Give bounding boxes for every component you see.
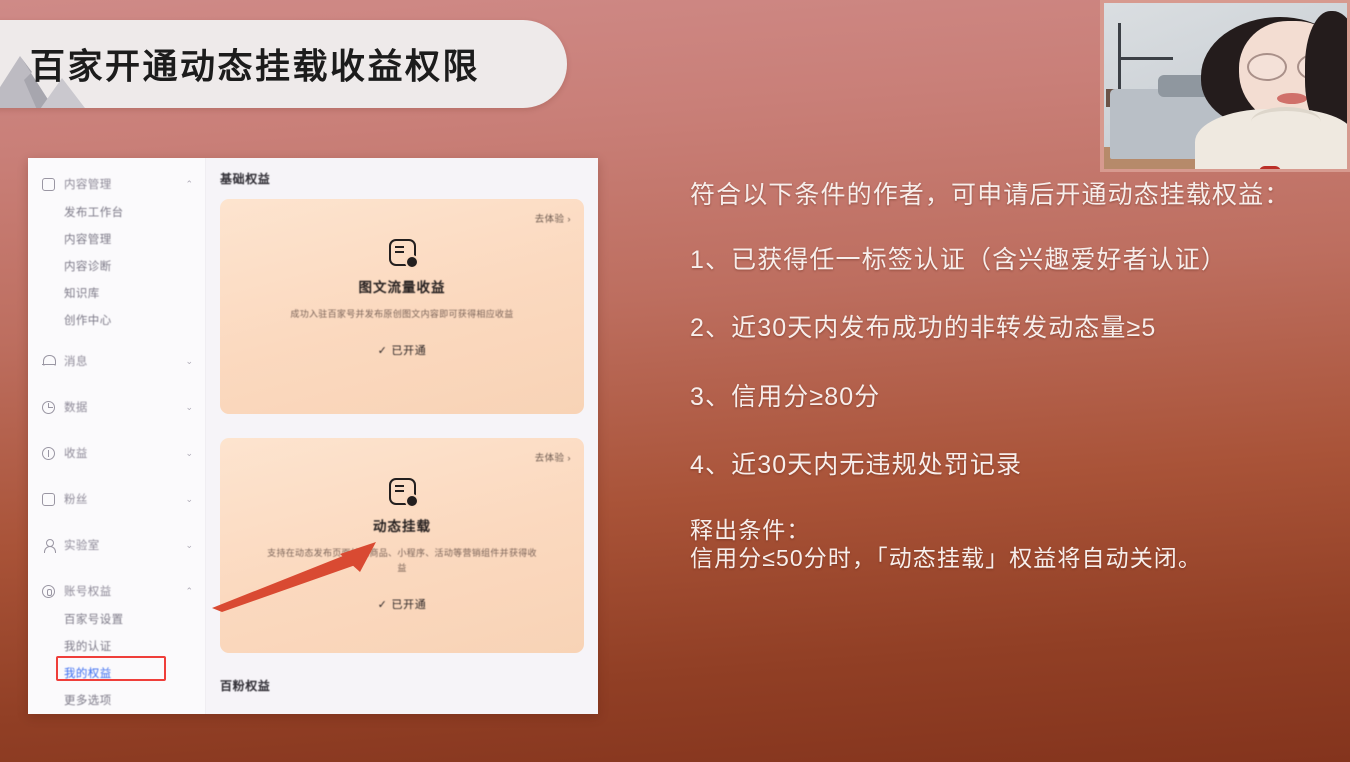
card-status-badge: ✓已开通 bbox=[220, 596, 584, 612]
body-copy: 符合以下条件的作者，可申请后开通动态挂载权益： 1、已获得任一标签认证（含兴趣爱… bbox=[690, 178, 1315, 575]
chevron-down-icon[interactable]: ⌄ bbox=[185, 357, 193, 366]
card-status-text: 已开通 bbox=[392, 599, 427, 611]
copy-item-4: 4、近30天内无违规处罚记录 bbox=[690, 449, 1315, 482]
copy-footer-text: 信用分≤50分时，「动态挂载」权益将自动关闭。 bbox=[690, 542, 1315, 575]
sidebar-label: 粉丝 bbox=[64, 491, 176, 507]
sidebar-item-content[interactable]: 内容管理 ⌃ bbox=[28, 170, 205, 198]
page-title: 百家开通动态挂载收益权限 bbox=[30, 39, 480, 90]
webcam-mic bbox=[1259, 166, 1281, 172]
slide-canvas: 百家开通动态挂载收益权限 内容管理 bbox=[0, 0, 1350, 762]
embedded-screenshot: 内容管理 ⌃ 发布工作台 内容管理 内容诊断 知识库 创作中心 消息 ⌄ 数据 … bbox=[28, 158, 598, 714]
card-link[interactable]: 去体验 › bbox=[535, 211, 571, 225]
fans-icon bbox=[42, 493, 55, 506]
check-icon: ✓ bbox=[378, 345, 388, 357]
sidebar-item-account-benefits[interactable]: 账号权益 ⌃ bbox=[28, 577, 205, 605]
webcam-lips bbox=[1277, 93, 1307, 104]
screenshot-main: 基础权益 去体验 › 图文流量收益 成功入驻百家号并发布原创图文内容即可获得相应… bbox=[206, 158, 598, 714]
chevron-down-icon[interactable]: ⌄ bbox=[185, 541, 193, 550]
card-title: 动态挂载 bbox=[220, 515, 584, 535]
card-description: 支持在动态发布页面挂载商品、小程序、活动等营销组件并获得收益 bbox=[220, 546, 584, 576]
sidebar-subitem-publish[interactable]: 发布工作台 bbox=[28, 198, 205, 225]
sidebar-label: 数据 bbox=[64, 399, 176, 415]
card-status-badge: ✓已开通 bbox=[220, 342, 584, 358]
copy-lead: 符合以下条件的作者，可申请后开通动态挂载权益： bbox=[690, 178, 1315, 214]
sidebar-item-fans[interactable]: 粉丝 ⌄ bbox=[28, 485, 205, 513]
sidebar-group-content: 内容管理 ⌃ 发布工作台 内容管理 内容诊断 知识库 创作中心 bbox=[28, 170, 205, 333]
webcam-person bbox=[1195, 17, 1350, 172]
slide-title-pill: 百家开通动态挂载收益权限 bbox=[0, 20, 567, 108]
chevron-down-icon[interactable]: ⌄ bbox=[185, 449, 193, 458]
benefit-card-article-income[interactable]: 去体验 › 图文流量收益 成功入驻百家号并发布原创图文内容即可获得相应收益 ✓已… bbox=[220, 199, 584, 414]
chevron-down-icon[interactable]: ⌄ bbox=[185, 403, 193, 412]
shield-icon bbox=[42, 585, 55, 598]
pie-icon bbox=[42, 401, 55, 414]
sidebar-subitem-my-benefits[interactable]: 我的权益 bbox=[28, 659, 205, 686]
copy-item-2: 2、近30天内发布成功的非转发动态量≥5 bbox=[690, 312, 1315, 345]
sidebar-item-messages[interactable]: 消息 ⌄ bbox=[28, 347, 205, 375]
sidebar-item-data[interactable]: 数据 ⌄ bbox=[28, 393, 205, 421]
dynamic-mount-icon bbox=[389, 478, 416, 505]
chevron-up-icon[interactable]: ⌃ bbox=[185, 180, 193, 189]
screenshot-sidebar[interactable]: 内容管理 ⌃ 发布工作台 内容管理 内容诊断 知识库 创作中心 消息 ⌄ 数据 … bbox=[28, 158, 206, 714]
sidebar-subitem-diagnose[interactable]: 内容诊断 bbox=[28, 252, 205, 279]
sidebar-subitem-manage[interactable]: 内容管理 bbox=[28, 225, 205, 252]
sidebar-subitem-settings[interactable]: 百家号设置 bbox=[28, 605, 205, 632]
card-link[interactable]: 去体验 › bbox=[535, 450, 571, 464]
benefit-card-dynamic-mount[interactable]: 去体验 › 动态挂载 支持在动态发布页面挂载商品、小程序、活动等营销组件并获得收… bbox=[220, 438, 584, 653]
check-icon: ✓ bbox=[378, 599, 388, 611]
copy-item-3: 3、信用分≥80分 bbox=[690, 381, 1315, 414]
chevron-down-icon[interactable]: ⌄ bbox=[185, 495, 193, 504]
card-status-text: 已开通 bbox=[392, 345, 427, 357]
sidebar-subitem-more[interactable]: 更多选项 bbox=[28, 686, 205, 713]
sidebar-subitem-creator-center[interactable]: 创作中心 bbox=[28, 306, 205, 333]
sidebar-item-lab[interactable]: 实验室 ⌄ bbox=[28, 531, 205, 559]
sidebar-label: 收益 bbox=[64, 445, 176, 461]
card-description: 成功入驻百家号并发布原创图文内容即可获得相应收益 bbox=[220, 307, 584, 322]
sidebar-subitem-knowledge[interactable]: 知识库 bbox=[28, 279, 205, 306]
bell-icon bbox=[42, 355, 55, 368]
sidebar-group-account: 账号权益 ⌃ 百家号设置 我的认证 我的权益 更多选项 bbox=[28, 577, 205, 713]
section-title-fans: 百粉权益 bbox=[220, 677, 584, 694]
sidebar-label: 实验室 bbox=[64, 537, 176, 553]
sidebar-label: 账号权益 bbox=[64, 583, 176, 599]
chevron-up-icon[interactable]: ⌃ bbox=[185, 587, 193, 596]
sidebar-label: 消息 bbox=[64, 353, 176, 369]
section-title-basic: 基础权益 bbox=[220, 170, 584, 187]
content-icon bbox=[42, 178, 55, 191]
webcam-overlay bbox=[1100, 0, 1350, 172]
card-title: 图文流量收益 bbox=[220, 276, 584, 296]
article-income-icon bbox=[389, 239, 416, 266]
sidebar-item-income[interactable]: 收益 ⌄ bbox=[28, 439, 205, 467]
webcam-collar bbox=[1251, 107, 1321, 137]
sidebar-label: 内容管理 bbox=[64, 176, 176, 192]
sidebar-subitem-my-certification[interactable]: 我的认证 bbox=[28, 632, 205, 659]
copy-item-1: 1、已获得任一标签认证（含兴趣爱好者认证） bbox=[690, 244, 1315, 277]
person-icon bbox=[42, 539, 55, 552]
coin-icon bbox=[42, 447, 55, 460]
